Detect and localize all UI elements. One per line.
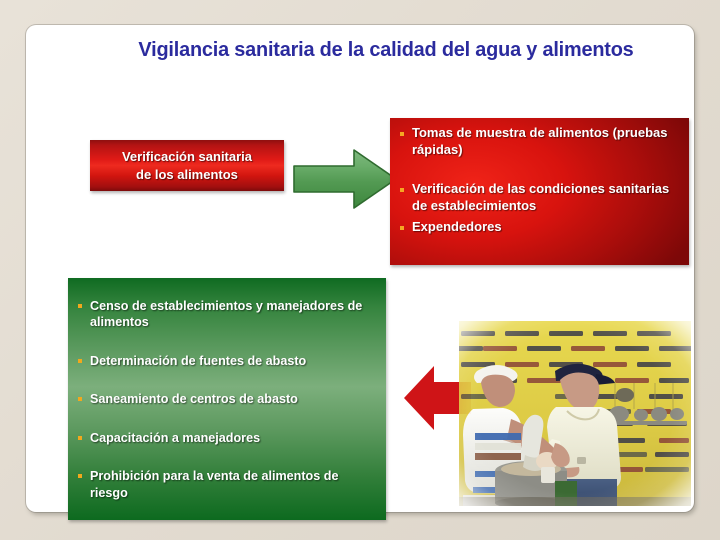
tasks-box-item-label: Capacitación a manejadores — [90, 430, 260, 446]
tasks-box-item-label: Prohibición para la venta de alimentos d… — [90, 468, 376, 501]
bullet-icon — [78, 359, 82, 363]
bullet-icon — [78, 474, 82, 478]
source-box-line-2: de los alimentos — [122, 166, 252, 183]
tasks-box-item: Censo de establecimientos y manejadores … — [76, 298, 376, 331]
tasks-box-item: Saneamiento de centros de abasto — [76, 391, 376, 407]
source-box-line-1: Verificación sanitaria — [122, 148, 252, 165]
actions-box-item: Expendedores — [398, 219, 681, 236]
slide-canvas: Vigilancia sanitaria de la calidad del a… — [26, 25, 694, 512]
source-box: Verificación sanitaria de los alimentos — [90, 140, 284, 191]
tasks-box-item-label: Censo de establecimientos y manejadores … — [90, 298, 376, 331]
tasks-box-item: Capacitación a manejadores — [76, 430, 376, 446]
slide-stage: Vigilancia sanitaria de la calidad del a… — [0, 0, 720, 540]
source-box-text: Verificación sanitaria de los alimentos — [122, 148, 252, 183]
actions-box-item: Tomas de muestra de alimentos (pruebas r… — [398, 125, 681, 159]
actions-box-item-label: Verificación de las condiciones sanitari… — [412, 181, 681, 215]
photo-inner — [459, 321, 691, 506]
actions-box: Tomas de muestra de alimentos (pruebas r… — [390, 118, 689, 265]
bullet-icon — [400, 132, 404, 136]
bullet-icon — [78, 304, 82, 308]
tasks-box-item-label: Determinación de fuentes de abasto — [90, 353, 306, 369]
tasks-box-item: Determinación de fuentes de abasto — [76, 353, 376, 369]
bullet-icon — [78, 436, 82, 440]
bullet-icon — [400, 188, 404, 192]
page-title: Vigilancia sanitaria de la calidad del a… — [95, 38, 677, 62]
right-arrow-icon — [292, 147, 398, 211]
tasks-box-item-label: Saneamiento de centros de abasto — [90, 391, 298, 407]
bullet-icon — [400, 226, 404, 230]
spacer — [398, 159, 681, 181]
bullet-icon — [78, 397, 82, 401]
actions-box-item: Verificación de las condiciones sanitari… — [398, 181, 681, 215]
tasks-box: Censo de establecimientos y manejadores … — [68, 278, 386, 520]
actions-box-item-label: Expendedores — [412, 219, 502, 236]
actions-box-item-label: Tomas de muestra de alimentos (pruebas r… — [412, 125, 681, 159]
tasks-box-item: Prohibición para la venta de alimentos d… — [76, 468, 376, 501]
food-inspection-photo — [459, 321, 691, 506]
